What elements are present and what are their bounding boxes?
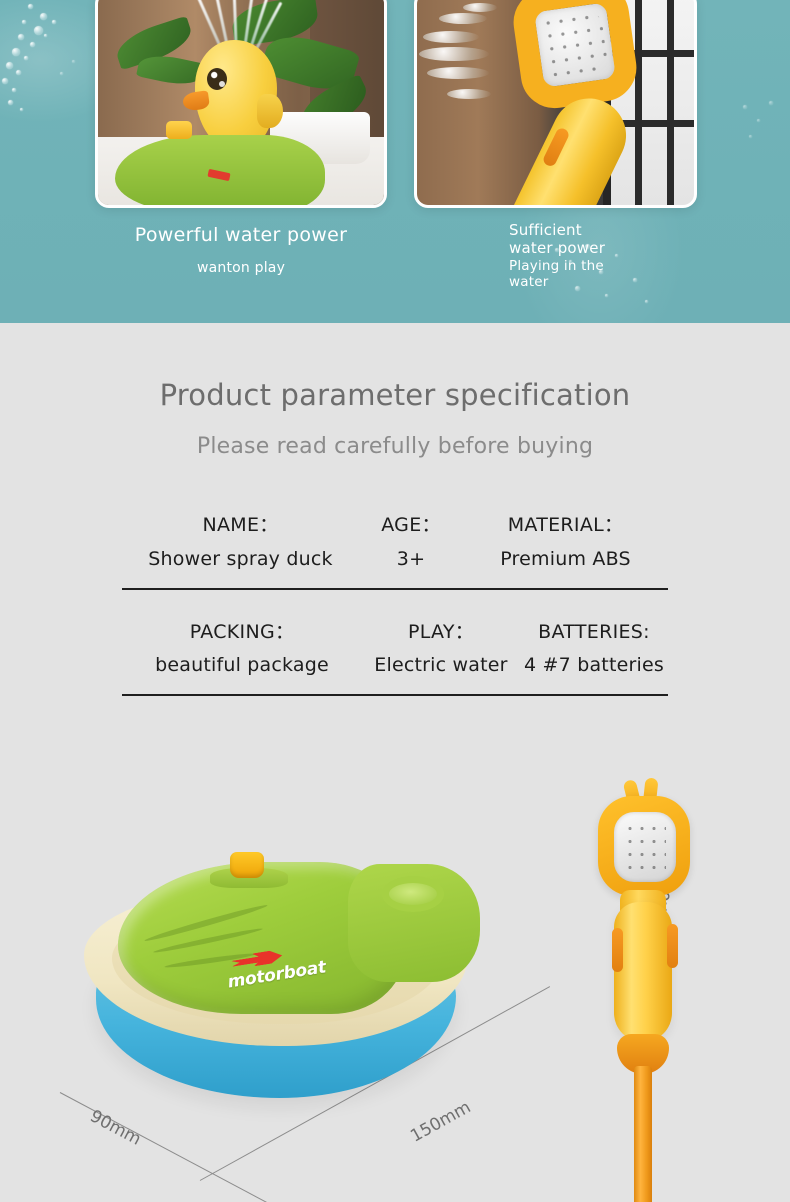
spec-divider-2 <box>122 694 668 696</box>
spec-cell-packing: PACKING： beautiful package <box>122 618 362 677</box>
spec-cell-batteries: BATTERIES: 4 #7 batteries <box>520 618 668 677</box>
dimension-label-width: 90mm <box>87 1106 145 1149</box>
shower-head-photo-image <box>417 0 694 205</box>
spec-cell-material: MATERIAL： Premium ABS <box>463 511 668 570</box>
spec-cell-age: AGE： 3+ <box>359 511 463 570</box>
spec-key: PACKING： <box>122 618 362 647</box>
boat-rear-port <box>382 876 444 912</box>
spec-key: MATERIAL： <box>463 511 668 540</box>
dimension-label-length: 150mm <box>407 1097 474 1146</box>
spec-row: NAME： Shower spray duck AGE： 3+ MATERIAL… <box>122 511 668 570</box>
shower-spray-plate <box>614 812 676 882</box>
spec-divider-1 <box>122 588 668 590</box>
bubble-cluster-left <box>0 0 110 130</box>
spec-value: Premium ABS <box>463 548 668 570</box>
boat-fill-cap <box>230 852 264 878</box>
hero-section: Powerful water power wanton play Suffici… <box>0 0 790 323</box>
caption-right-line1: Sufficient <box>509 221 739 239</box>
caption-left: Powerful water power wanton play <box>95 224 387 276</box>
shower-grip-right <box>667 924 678 968</box>
motorboat-toy: motorboat <box>78 846 474 1096</box>
shower-body <box>614 902 672 1042</box>
spec-row: PACKING： beautiful package PLAY： Electri… <box>122 618 668 677</box>
spec-value: Shower spray duck <box>122 548 359 570</box>
caption-right-line4: water <box>509 274 739 291</box>
spec-value: 4 #7 batteries <box>520 654 668 676</box>
bubble-cluster-right <box>735 95 790 155</box>
spec-key: BATTERIES: <box>520 618 668 647</box>
caption-right-line2: water power <box>509 239 739 257</box>
duck-spray-photo[interactable] <box>95 0 387 208</box>
spec-key: NAME： <box>122 511 359 540</box>
specification-section: Product parameter specification Please r… <box>0 323 790 696</box>
caption-left-subline: wanton play <box>95 260 387 276</box>
shower-hose <box>634 1066 652 1202</box>
boat-in-photo <box>115 135 325 205</box>
shower-head-ring <box>509 0 641 112</box>
caption-right-line3: Playing in the <box>509 258 739 275</box>
spec-subtitle: Please read carefully before buying <box>0 434 790 459</box>
spec-value: 3+ <box>359 548 463 570</box>
product-dimension-diagram: 90mm 150mm 50x 150mm motorboat <box>0 770 790 1202</box>
spec-cell-play: PLAY： Electric water <box>362 618 520 677</box>
spec-value: Electric water <box>362 654 520 676</box>
spec-title: Product parameter specification <box>0 378 790 412</box>
dimension-line-width <box>60 1092 352 1202</box>
spec-table: NAME： Shower spray duck AGE： 3+ MATERIAL… <box>122 511 668 696</box>
caption-right: Sufficient water power Playing in the wa… <box>509 221 739 291</box>
spec-key: PLAY： <box>362 618 520 647</box>
duck-spray-photo-image <box>98 0 384 205</box>
spec-cell-name: NAME： Shower spray duck <box>122 511 359 570</box>
duck-shower-head <box>586 778 696 1198</box>
shower-head-photo[interactable] <box>414 0 697 208</box>
caption-left-headline: Powerful water power <box>95 224 387 247</box>
shower-grip-left <box>612 928 623 972</box>
spec-key: AGE： <box>359 511 463 540</box>
spec-value: beautiful package <box>122 654 362 676</box>
product-detail-page: Powerful water power wanton play Suffici… <box>0 0 790 1202</box>
